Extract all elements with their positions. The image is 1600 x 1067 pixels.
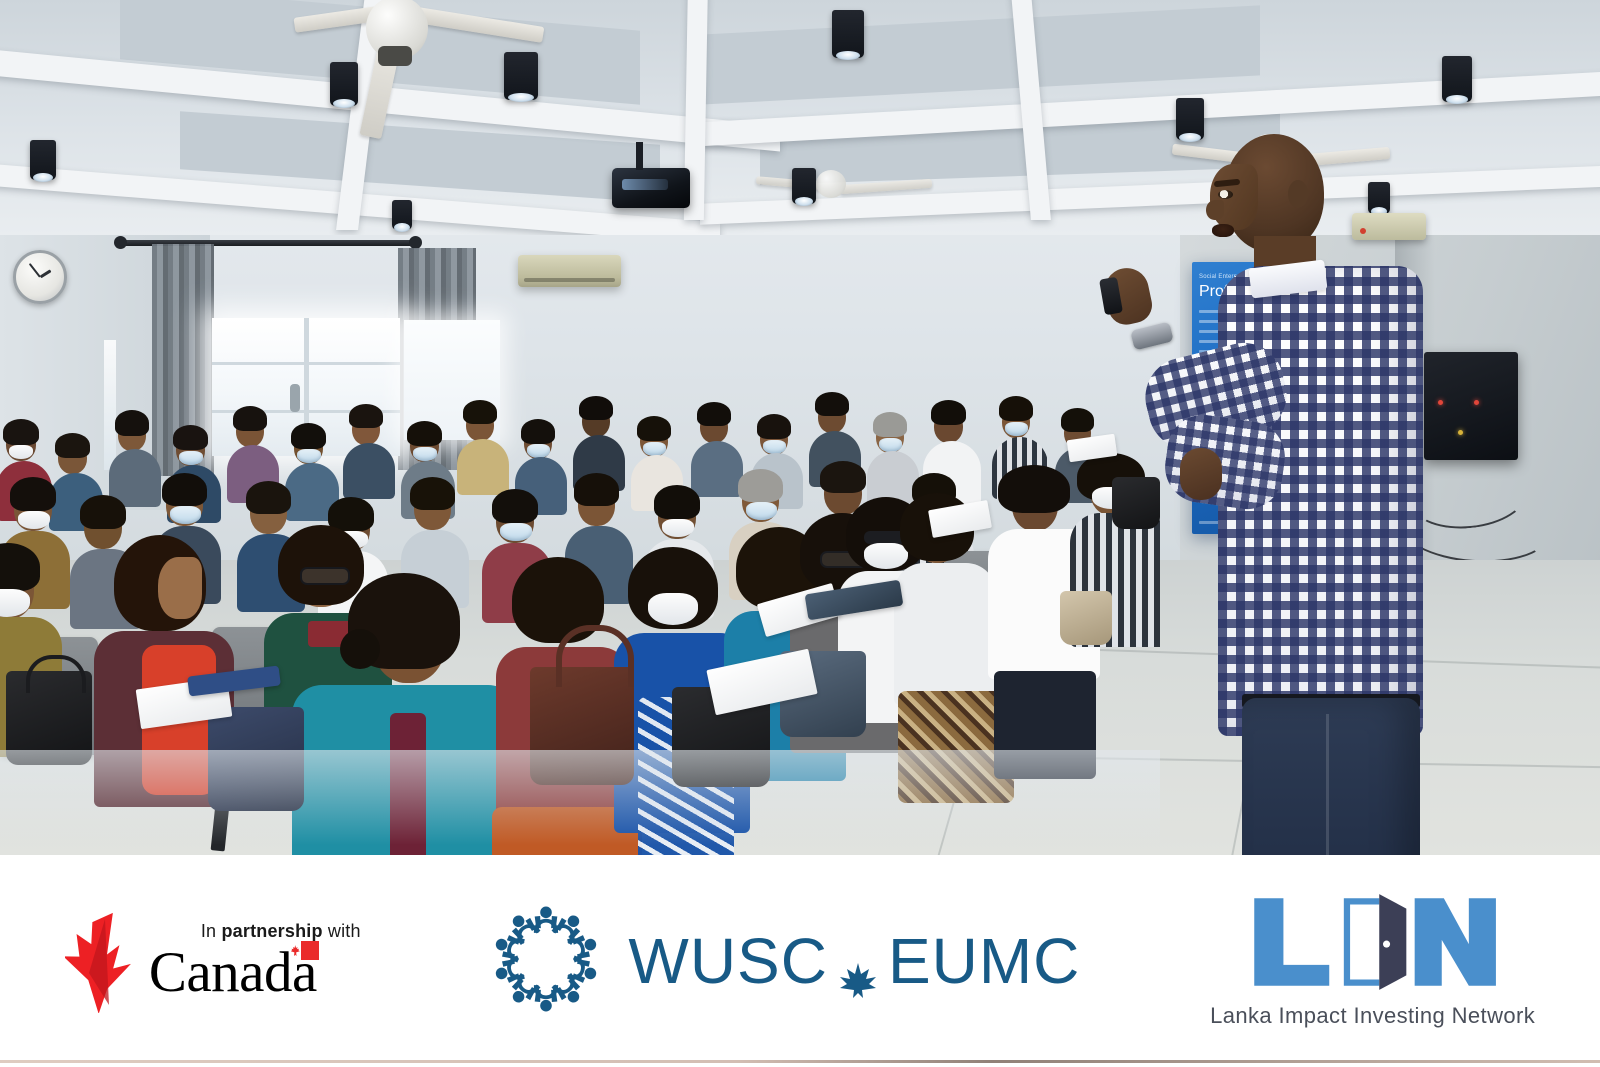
canada-wordmark-text: Canada — [149, 945, 317, 1001]
footer-bottom-rule — [0, 1060, 1600, 1063]
event-photograph: Social Enterprise Profile — [0, 0, 1600, 855]
partnership-pre: In — [201, 921, 222, 941]
ceiling-projector-icon — [612, 168, 690, 208]
ceiling-downlight-icon — [832, 10, 864, 58]
audience-group — [0, 375, 1160, 855]
presenter-hand — [1180, 448, 1222, 500]
presenter-trousers — [1242, 698, 1420, 855]
ceiling-downlight-icon — [30, 140, 56, 180]
maple-leaf-icon — [838, 941, 878, 981]
presenter-mouth — [1212, 224, 1234, 237]
ceiling-downlight-icon — [392, 200, 412, 230]
presenter — [1158, 118, 1448, 855]
event-photo-page: Social Enterprise Profile — [0, 0, 1600, 1067]
handbag — [208, 707, 304, 811]
wusc-label: WUSC — [628, 924, 828, 998]
ceiling-downlight-icon — [1442, 56, 1472, 102]
handbag-strap — [556, 625, 634, 687]
air-conditioner-icon — [518, 255, 621, 287]
liin-open-door-icon — [1248, 894, 1498, 995]
presenter-nose — [1206, 200, 1224, 220]
presenter-ear — [1288, 180, 1308, 208]
ceiling-downlight-icon — [792, 168, 816, 204]
wall-clock-icon — [13, 250, 67, 304]
ceiling-fan-icon — [800, 162, 930, 216]
canada-maple-swoosh-icon — [65, 909, 135, 1013]
handbag-strap — [26, 655, 86, 693]
liin-logo: Lanka Impact Investing Network — [1210, 894, 1535, 1029]
canada-wordmark-logo: In partnership with Canada — [65, 909, 361, 1013]
liin-tagline: Lanka Impact Investing Network — [1210, 1003, 1535, 1029]
trouser-pleat — [1326, 714, 1329, 855]
eumc-label: EUMC — [888, 924, 1080, 998]
canadian-flag-icon — [290, 941, 319, 960]
canada-text-block: In partnership with Canada — [149, 921, 361, 1001]
handbag — [1060, 591, 1112, 645]
presenter-face — [1210, 164, 1258, 230]
partnership-bold: partnership — [221, 921, 322, 941]
partnership-post: with — [323, 921, 361, 941]
partner-logo-footer: In partnership with Canada — [0, 855, 1600, 1067]
wusc-eumc-text: WUSC EUMC — [628, 924, 1080, 998]
wusc-sun-people-icon — [490, 903, 602, 1020]
ceiling-downlight-icon — [504, 52, 538, 100]
handbag — [1112, 477, 1160, 529]
ceiling-downlight-icon — [330, 62, 358, 106]
partnership-line: In partnership with — [201, 921, 361, 942]
wusc-eumc-logo: WUSC EUMC — [490, 903, 1080, 1020]
presenter-eye — [1218, 190, 1233, 199]
